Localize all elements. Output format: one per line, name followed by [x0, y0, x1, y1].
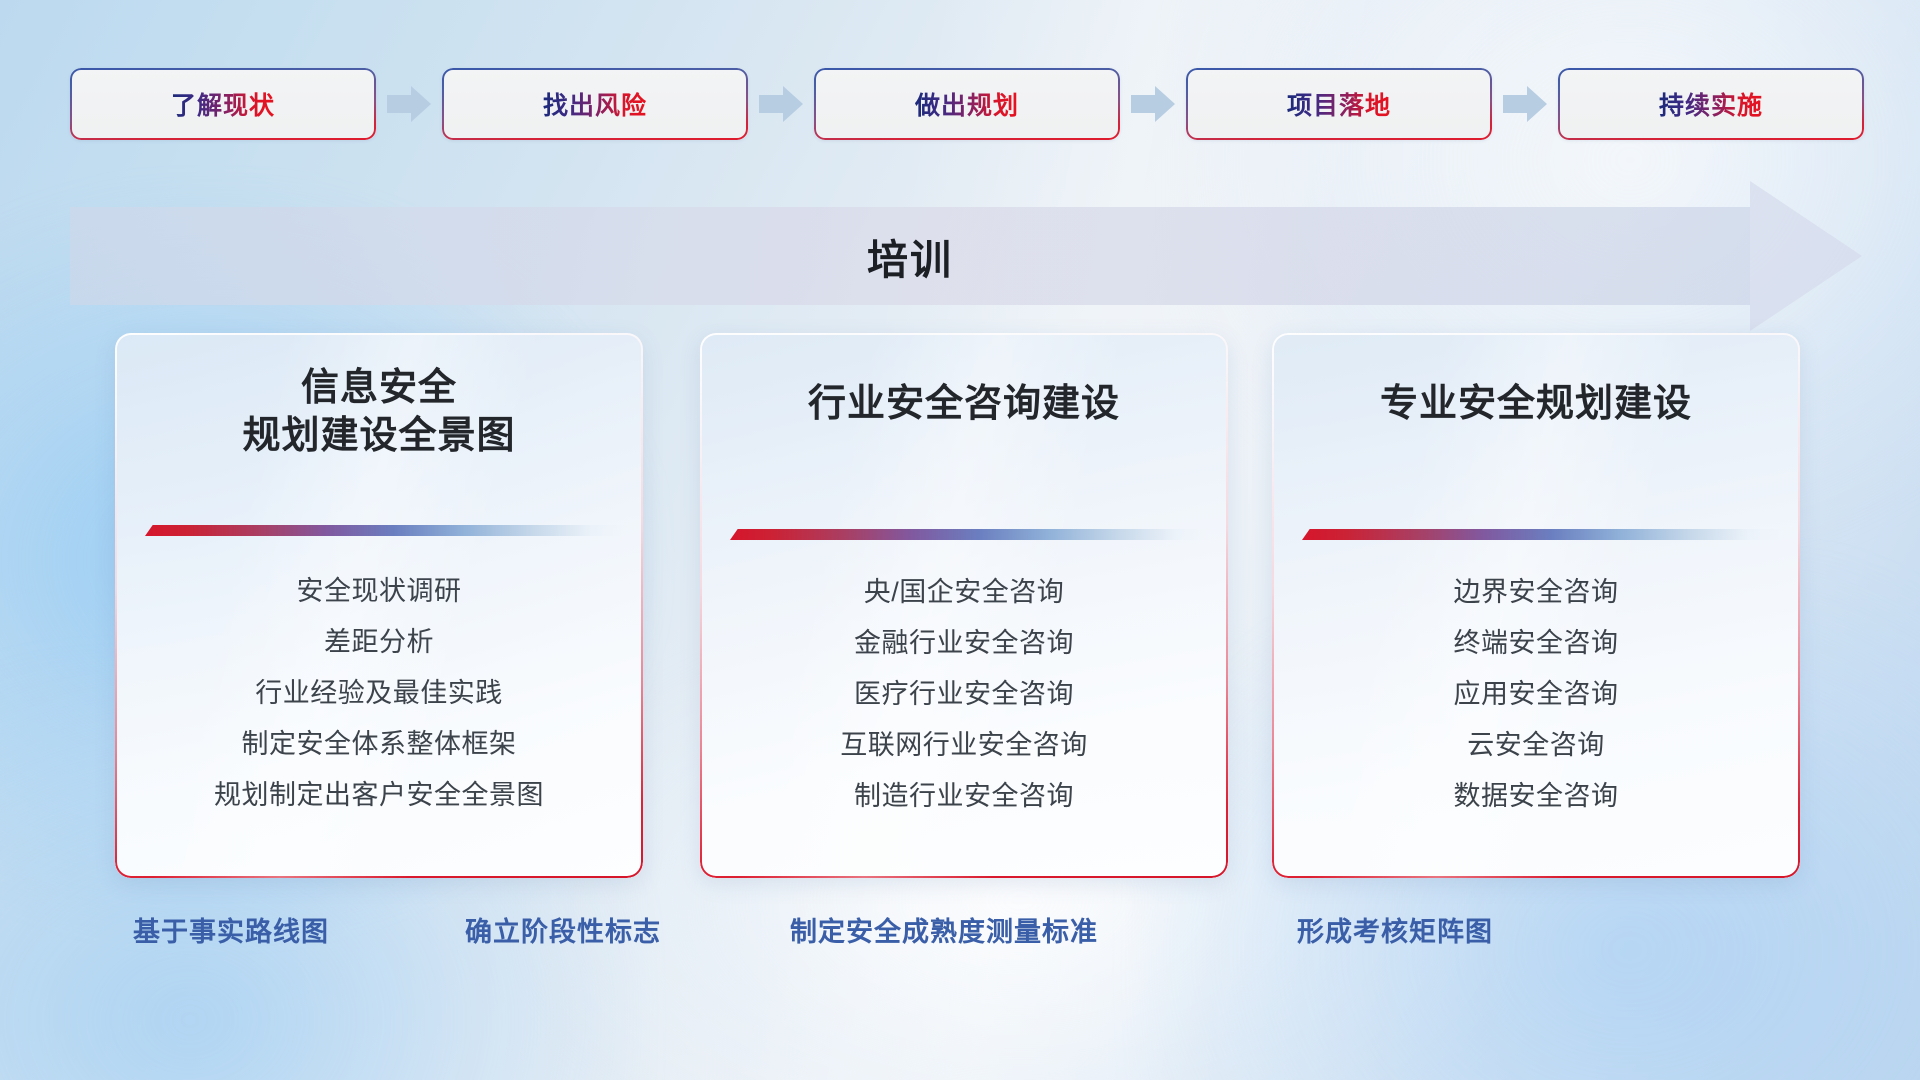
list-item: 应用安全咨询 [1454, 673, 1619, 716]
card-divider [145, 525, 625, 539]
banner-arrow-head-icon [1750, 181, 1862, 331]
card-title: 信息安全 规划建设全景图 [115, 333, 643, 461]
list-item: 差距分析 [324, 621, 434, 664]
footnote-row: 基于事实路线图 确立阶段性标志 制定安全成熟度测量标准 形成考核矩阵图 [0, 910, 1920, 970]
footnote-label: 确立阶段性标志 [465, 910, 661, 949]
step-label: 持续实施 [1659, 86, 1763, 122]
step-chip-5[interactable]: 持续实施 [1558, 68, 1864, 140]
card-divider [1302, 529, 1782, 543]
process-step-bar: 了解现状 找出风险 做出规划 项目落地 持续实施 [70, 68, 1860, 140]
footnote-label: 形成考核矩阵图 [1297, 910, 1493, 949]
step-label: 项目落地 [1287, 86, 1391, 122]
card-title-line: 信息安全 [115, 365, 643, 413]
banner-title: 培训 [70, 207, 1750, 305]
card-item-list: 安全现状调研 差距分析 行业经验及最佳实践 制定安全体系整体框架 规划制定出客户… [115, 570, 643, 817]
right-arrow-icon [387, 86, 431, 122]
footnote-label: 制定安全成熟度测量标准 [790, 910, 1098, 949]
card-title: 行业安全咨询建设 [700, 333, 1228, 429]
list-item: 互联网行业安全咨询 [840, 724, 1088, 767]
list-item: 制定安全体系整体框架 [242, 723, 517, 766]
step-chip-3[interactable]: 做出规划 [814, 68, 1120, 140]
list-item: 金融行业安全咨询 [854, 622, 1074, 665]
list-item: 行业经验及最佳实践 [255, 672, 503, 715]
list-item: 制造行业安全咨询 [854, 775, 1074, 818]
step-label: 了解现状 [171, 86, 275, 122]
card-item-list: 央/国企安全咨询 金融行业安全咨询 医疗行业安全咨询 互联网行业安全咨询 制造行… [700, 571, 1228, 818]
step-chip-4[interactable]: 项目落地 [1186, 68, 1492, 140]
step-label: 做出规划 [915, 86, 1019, 122]
list-item: 云安全咨询 [1467, 724, 1605, 767]
feature-card-3[interactable]: 专业安全规划建设 边界安全咨询 终端安全咨询 应用安全咨询 云安全咨询 数据安全… [1272, 333, 1800, 878]
step-chip-2[interactable]: 找出风险 [442, 68, 748, 140]
step-label: 找出风险 [543, 86, 647, 122]
list-item: 医疗行业安全咨询 [854, 673, 1074, 716]
step-chip-1[interactable]: 了解现状 [70, 68, 376, 140]
card-title-line: 专业安全规划建设 [1272, 381, 1800, 429]
right-arrow-icon [759, 86, 803, 122]
footnote-label: 基于事实路线图 [133, 910, 329, 949]
list-item: 央/国企安全咨询 [864, 571, 1065, 614]
right-arrow-icon [1503, 86, 1547, 122]
list-item: 规划制定出客户安全全景图 [214, 774, 544, 817]
list-item: 数据安全咨询 [1454, 775, 1619, 818]
list-item: 终端安全咨询 [1454, 622, 1619, 665]
card-divider [730, 529, 1210, 543]
card-title-line: 行业安全咨询建设 [700, 381, 1228, 429]
feature-card-2[interactable]: 行业安全咨询建设 央/国企安全咨询 金融行业安全咨询 医疗行业安全咨询 互联网行… [700, 333, 1228, 878]
feature-card-group: 信息安全 规划建设全景图 安全现状调研 差距分析 行业经验及最佳实践 制定安全体… [0, 333, 1920, 878]
right-arrow-icon [1131, 86, 1175, 122]
training-banner: 培训 [70, 207, 1860, 305]
list-item: 边界安全咨询 [1454, 571, 1619, 614]
card-title: 专业安全规划建设 [1272, 333, 1800, 429]
feature-card-1[interactable]: 信息安全 规划建设全景图 安全现状调研 差距分析 行业经验及最佳实践 制定安全体… [115, 333, 643, 878]
list-item: 安全现状调研 [297, 570, 462, 613]
card-title-line: 规划建设全景图 [115, 413, 643, 461]
card-item-list: 边界安全咨询 终端安全咨询 应用安全咨询 云安全咨询 数据安全咨询 [1272, 571, 1800, 818]
